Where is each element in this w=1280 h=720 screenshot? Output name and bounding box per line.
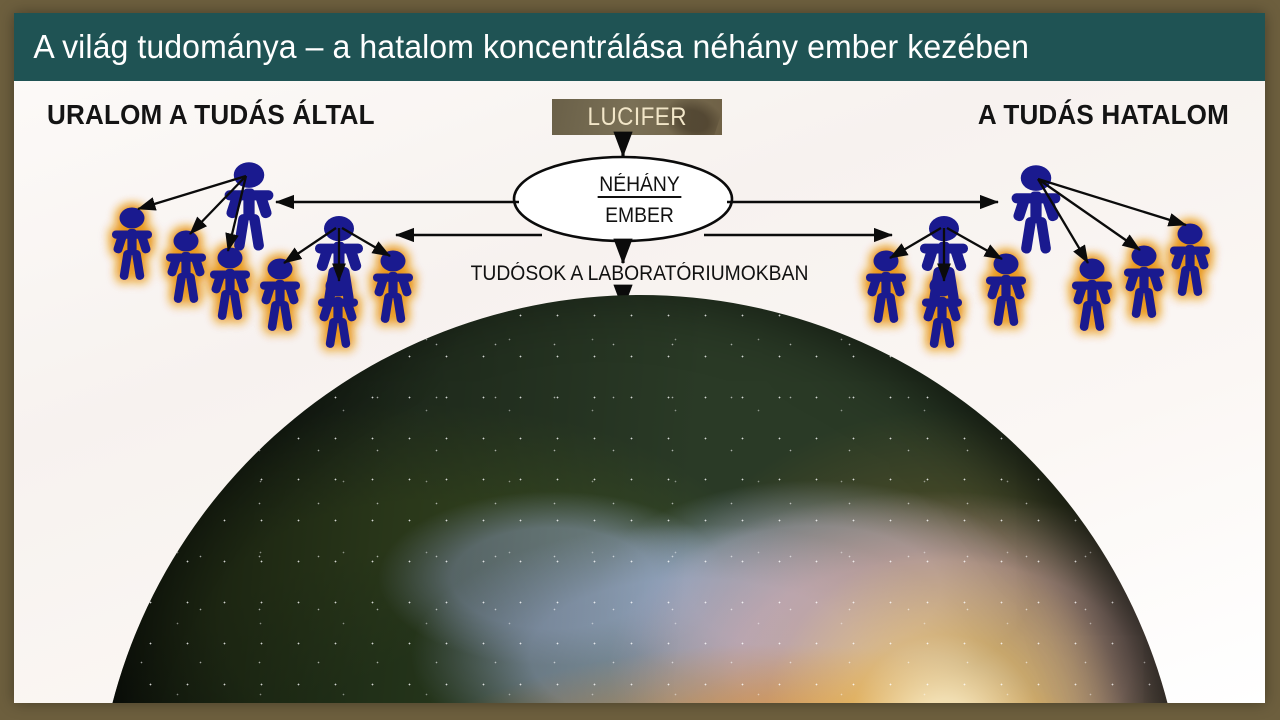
- slide-title-bar: A világ tudománya – a hatalom koncentrál…: [14, 13, 1265, 81]
- earth-globe: [95, 295, 1185, 703]
- slide-stage: A világ tudománya – a hatalom koncentrál…: [0, 0, 1280, 720]
- slide-title: A világ tudománya – a hatalom koncentrál…: [14, 28, 1029, 66]
- center-node-line2: EMBER: [64, 204, 1215, 228]
- lucifer-badge: LUCIFER: [552, 99, 722, 135]
- globe-container: [14, 283, 1265, 703]
- center-node-ellipse: [514, 157, 732, 241]
- center-node-line1: NÉHÁNY: [64, 173, 1215, 197]
- presentation-slide: A világ tudománya – a hatalom koncentrál…: [14, 13, 1265, 703]
- center-node-line1-text: NÉHÁNY: [597, 173, 681, 198]
- heading-right: A TUDÁS HATALOM: [978, 99, 1229, 131]
- heading-left: URALOM A TUDÁS ÁLTAL: [47, 99, 375, 131]
- globe-rim-light: [95, 295, 1185, 703]
- lucifer-badge-label: LUCIFER: [587, 103, 686, 132]
